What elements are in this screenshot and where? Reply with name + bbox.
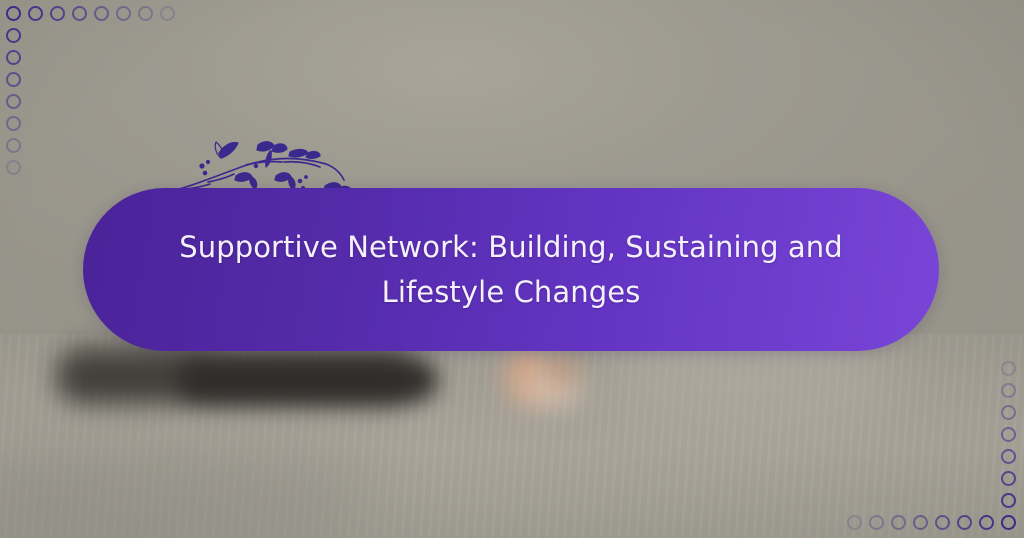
decor-ring	[6, 94, 21, 109]
decor-ring	[957, 515, 972, 530]
decor-ring	[1001, 449, 1016, 464]
yoga-mat-core	[178, 360, 438, 400]
decor-ring	[6, 72, 21, 87]
decor-ring	[116, 6, 131, 21]
decor-ring	[6, 28, 21, 43]
decor-ring	[1001, 405, 1016, 420]
decor-ring	[913, 515, 928, 530]
decor-ring	[847, 515, 862, 530]
decor-ring	[50, 6, 65, 21]
decor-ring	[1001, 515, 1016, 530]
page-title: Supportive Network: Building, Sustaining…	[161, 225, 861, 313]
banner-stage: Supportive Network: Building, Sustaining…	[0, 0, 1024, 538]
decor-ring	[1001, 427, 1016, 442]
decor-ring	[1001, 383, 1016, 398]
decor-ring	[6, 138, 21, 153]
dot-motif-bottom-right	[836, 350, 1024, 538]
decor-ring	[6, 6, 21, 21]
decor-ring	[1001, 471, 1016, 486]
decor-ring	[979, 515, 994, 530]
decor-ring	[1001, 493, 1016, 508]
decor-ring	[160, 6, 175, 21]
decor-ring	[891, 515, 906, 530]
dot-motif-top-left	[0, 0, 188, 188]
decor-ring	[6, 116, 21, 131]
decor-ring	[869, 515, 884, 530]
decor-ring	[138, 6, 153, 21]
decor-ring	[6, 50, 21, 65]
person-limb-shadow	[546, 356, 580, 386]
decor-ring	[6, 160, 21, 175]
decor-ring	[72, 6, 87, 21]
decor-ring	[94, 6, 109, 21]
title-banner: Supportive Network: Building, Sustaining…	[83, 188, 939, 351]
decor-ring	[935, 515, 950, 530]
decor-ring	[28, 6, 43, 21]
decor-ring	[1001, 361, 1016, 376]
